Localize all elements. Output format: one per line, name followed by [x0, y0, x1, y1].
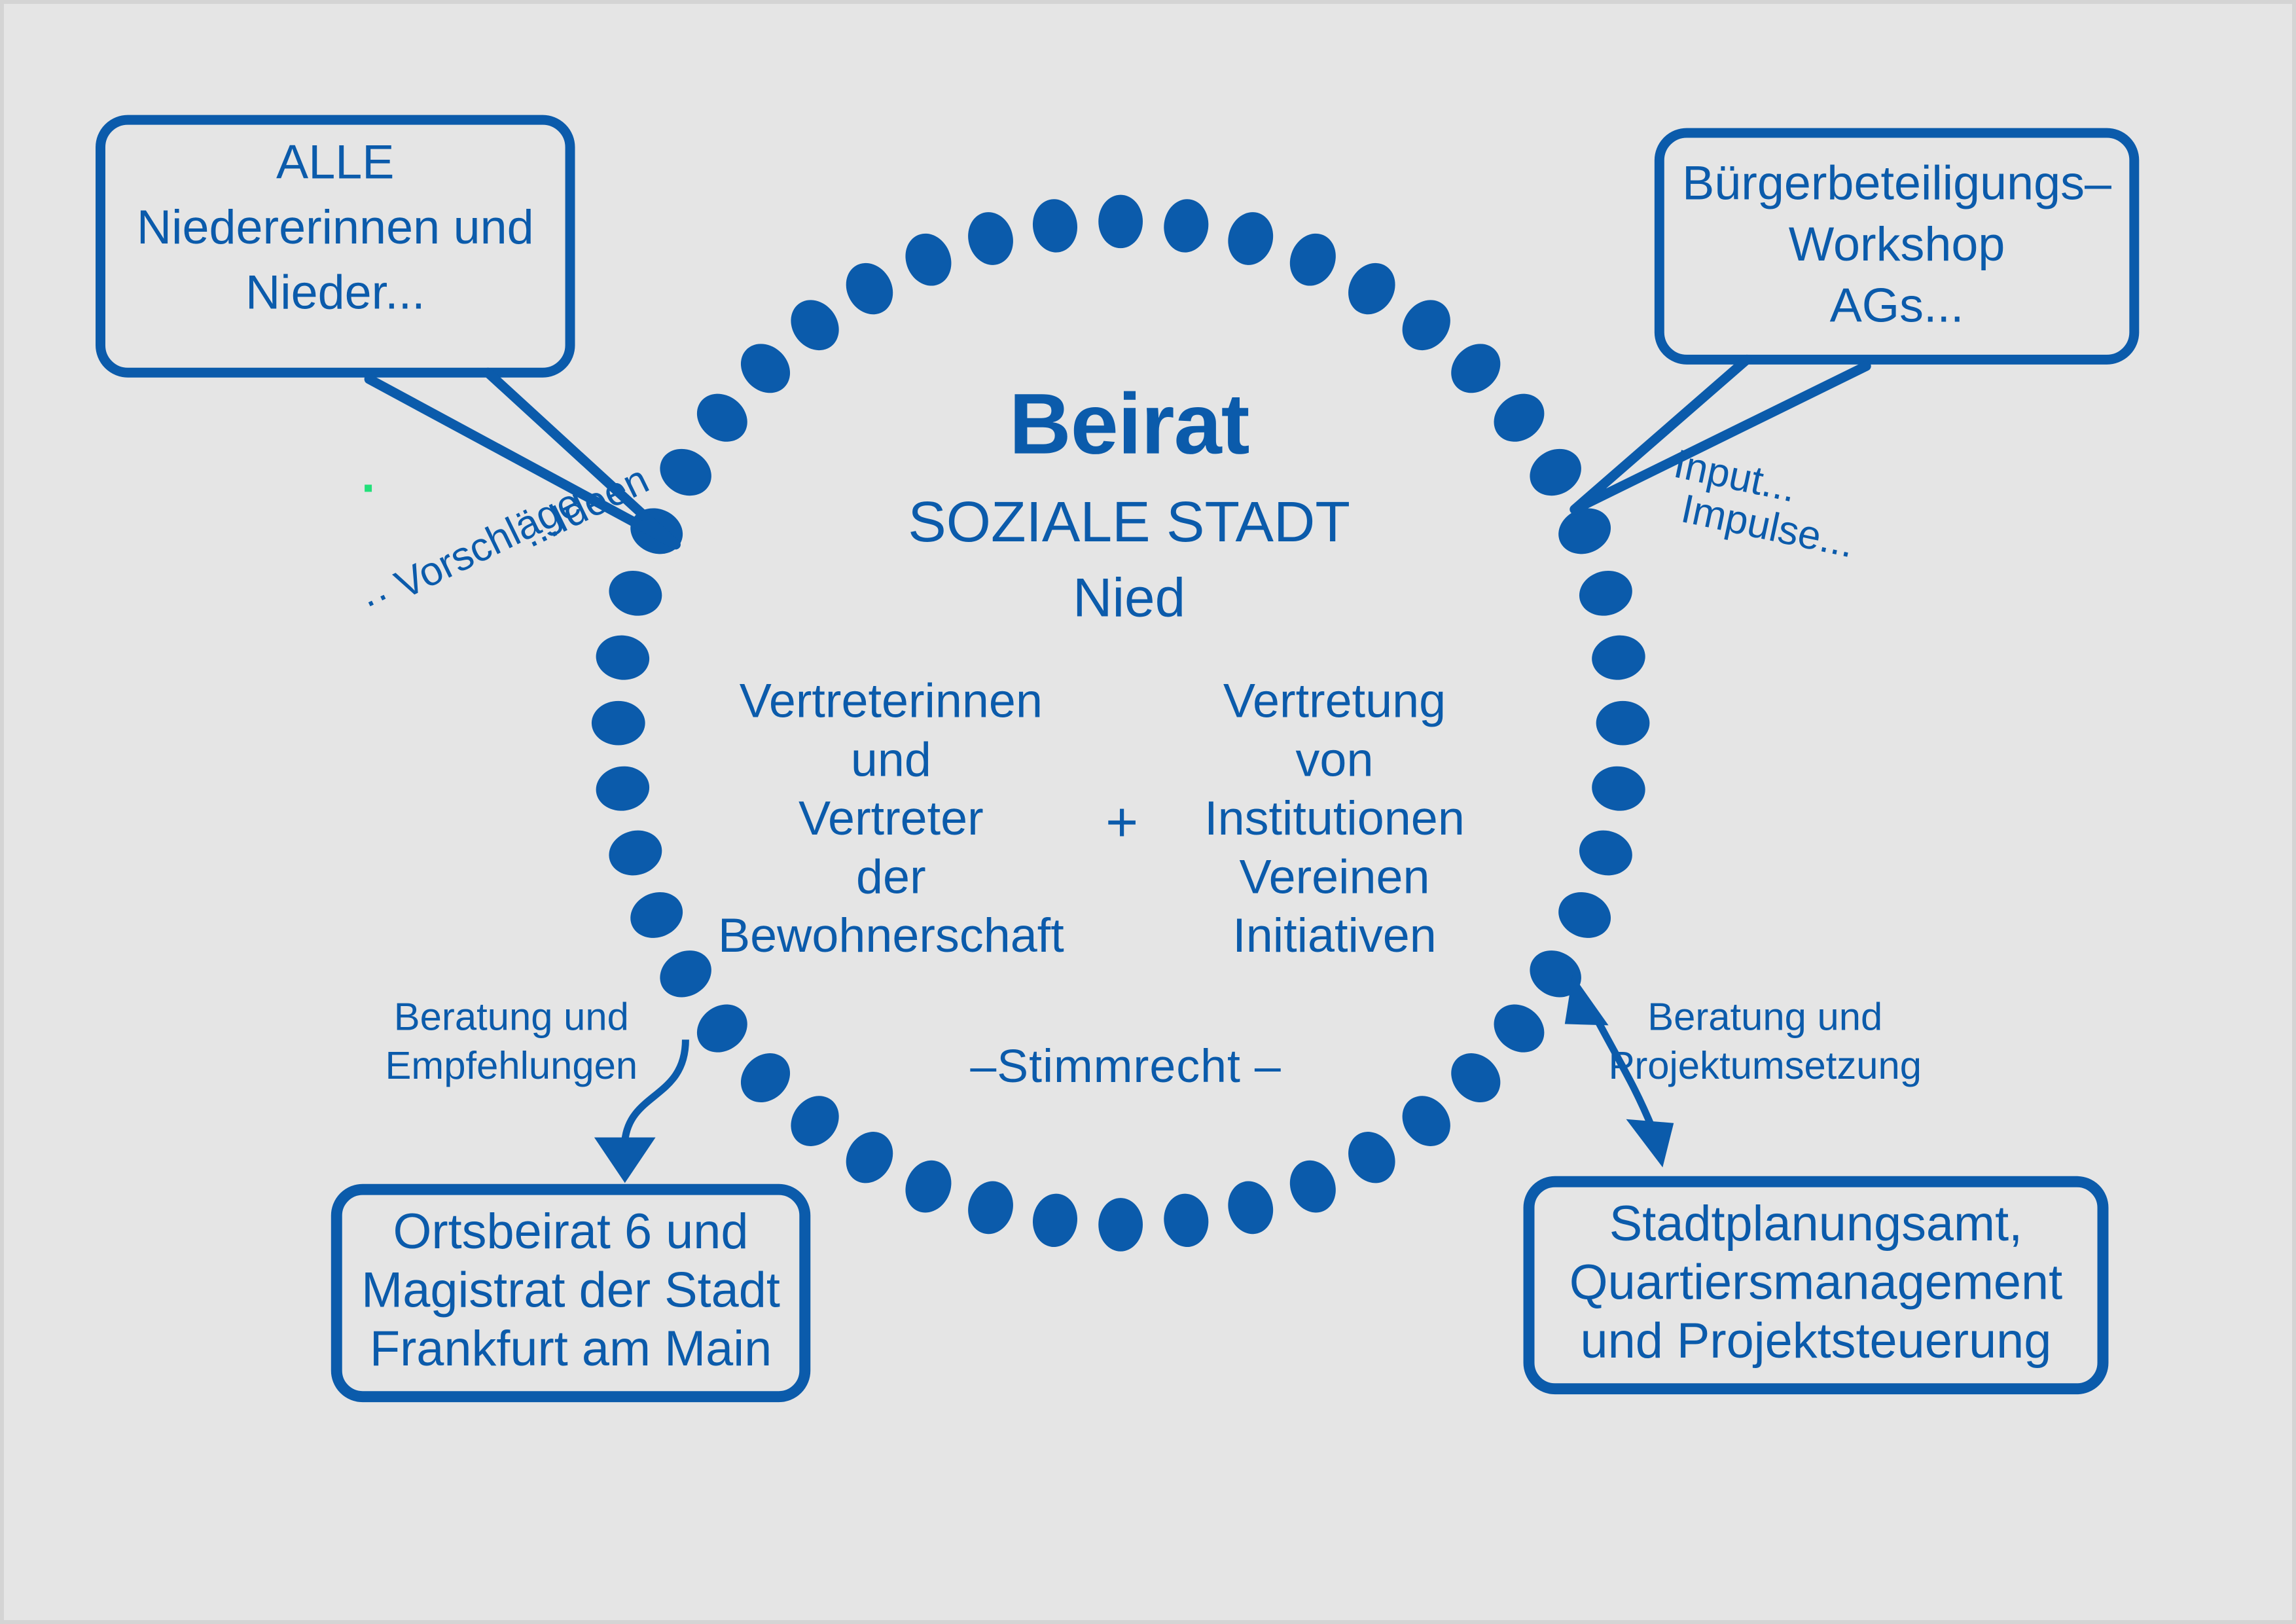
circle-dot [1441, 334, 1511, 403]
circle-dot [1339, 1123, 1405, 1192]
box-stadtplanungsamt-line-2: Quartiersmanagement [1570, 1254, 2062, 1310]
circle-dot [1392, 291, 1460, 360]
circle-dot [1160, 196, 1211, 255]
box-ortsbeirat[interactable]: Ortsbeirat 6 und Magistrat der Stadt Fra… [336, 1189, 805, 1396]
left-column-line-5: Bewohnerschaft [718, 908, 1064, 962]
speech-bubble-buergerinnen-line-3: Nieder... [245, 265, 425, 319]
center-subtitle-secondary: Nied [1073, 567, 1185, 628]
circle-dot [1521, 440, 1590, 505]
circle-dot [1098, 195, 1143, 249]
circle-dot [687, 994, 757, 1062]
circle-dot [1160, 1191, 1211, 1250]
box-stadtplanungsamt[interactable]: Stadtplanungsamt, Quartiersmanagement un… [1529, 1182, 2103, 1388]
speech-bubble-workshop-line-2: Workshop [1789, 217, 2005, 271]
circle-dot [651, 941, 720, 1006]
right-column-line-1: Vertretung [1223, 674, 1446, 728]
right-column-line-3: Institutionen [1204, 791, 1465, 845]
right-column-line-5: Initiativen [1232, 908, 1437, 962]
circle-dot [731, 1043, 800, 1113]
speech-bubble-buergerinnen-line-2: Niedererinnen und [137, 200, 534, 254]
circle-dot [604, 825, 667, 881]
circle-dot [731, 334, 800, 403]
annotation-vorschlaege-group: ·· Vorschläge [354, 480, 588, 624]
diagram-canvas: Beirat SOZIALE STADT Nied Vertreterinnen… [0, 0, 2296, 1624]
box-stadtplanungsamt-line-3: und Projektsteuerung [1581, 1313, 2052, 1369]
circle-dot [651, 440, 720, 505]
circle-dot [1574, 565, 1637, 621]
circle-dot [1484, 384, 1554, 452]
plus-operator: + [1105, 791, 1138, 854]
circle-dot [1282, 1153, 1344, 1219]
circle-dot [1339, 255, 1405, 323]
arrow-beirat-to-ortsbeirat-head [594, 1138, 656, 1183]
box-ortsbeirat-line-3: Frankfurt am Main [370, 1321, 772, 1377]
center-subtitle: SOZIALE STADT [908, 490, 1350, 554]
circle-dot [1098, 1198, 1143, 1252]
box-ortsbeirat-line-2: Magistrat der Stadt [361, 1262, 780, 1318]
annotation-beratung-empfehlungen-line-1: Beratung und [394, 994, 629, 1038]
annotation-beratung-projektumsetzung-line-2: Projektumsetzung [1608, 1043, 1922, 1087]
circle-dot [593, 632, 652, 683]
green-pixel-artifact [365, 484, 372, 492]
circle-dot [1222, 1176, 1279, 1239]
circle-dot [1222, 207, 1279, 270]
center-title: Beirat [1009, 376, 1249, 472]
circle-dot [623, 884, 689, 946]
box-stadtplanungsamt-line-1: Stadtplanungsamt, [1609, 1196, 2022, 1252]
circle-dot [1589, 632, 1648, 683]
circle-dot [1551, 884, 1617, 946]
left-column-line-1: Vertreterinnen [740, 674, 1043, 728]
annotation-beratung-projektumsetzung-line-1: Beratung und [1647, 994, 1882, 1038]
speech-bubble-workshop[interactable]: Bürgerbeteiligungs– Workshop AGs... [1575, 133, 2134, 509]
circle-dot [1589, 763, 1648, 814]
circle-dot [687, 384, 757, 452]
circle-dot [1392, 1087, 1460, 1156]
stimmrecht-label: –Stimmrecht – [970, 1040, 1281, 1092]
circle-dot [1596, 701, 1650, 746]
right-column-line-2: von [1296, 732, 1374, 786]
annotation-vorschlaege: ·· Vorschläge [354, 480, 588, 624]
circle-dot [592, 701, 645, 746]
circle-dot [898, 226, 960, 293]
circle-dot [604, 565, 667, 621]
circle-dot [1484, 994, 1554, 1062]
circle-dot [898, 1153, 960, 1219]
circle-dot [1282, 226, 1344, 293]
left-column-line-4: der [856, 849, 926, 903]
circle-dot [1030, 1191, 1081, 1250]
annotation-beratung-empfehlungen-line-2: Empfehlungen [386, 1043, 638, 1087]
circle-dot [1030, 196, 1081, 255]
left-column-line-2: und [851, 732, 931, 786]
circle-dot [781, 291, 849, 360]
circle-dot [1574, 825, 1637, 881]
circle-dot [1441, 1043, 1511, 1113]
circle-dot [593, 763, 652, 814]
arrow-beirat-stadtplanung-head-down [1626, 1119, 1674, 1168]
left-column-line-3: Vertreter [798, 791, 984, 845]
speech-bubble-workshop-line-3: AGs... [1830, 278, 1964, 333]
circle-dot [837, 1123, 903, 1192]
circle-dot [781, 1087, 849, 1156]
circle-dot [962, 207, 1019, 270]
beirat-soziale-stadt-diagram: Beirat SOZIALE STADT Nied Vertreterinnen… [4, 4, 2292, 1620]
circle-dot [962, 1176, 1019, 1239]
speech-bubble-buergerinnen-line-1: ALLE [276, 135, 394, 189]
box-ortsbeirat-line-1: Ortsbeirat 6 und [393, 1204, 749, 1259]
circle-dot [837, 255, 903, 323]
speech-bubble-workshop-line-1: Bürgerbeteiligungs– [1682, 156, 2111, 210]
right-column-line-4: Vereinen [1239, 849, 1429, 903]
